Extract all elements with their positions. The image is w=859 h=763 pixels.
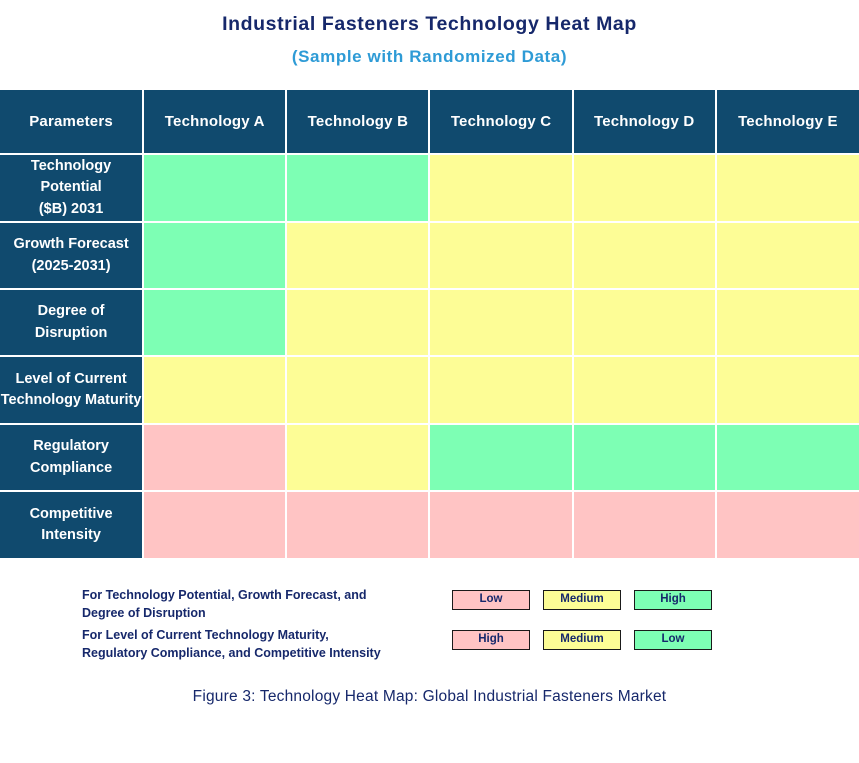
row-label-line: Degree of xyxy=(0,301,142,322)
column-header-parameters: Parameters xyxy=(0,90,143,154)
heat-cell xyxy=(716,491,859,558)
row-label-degree-of-disruption: Degree of Disruption xyxy=(0,289,143,356)
legend-swatch-medium: Medium xyxy=(543,590,621,610)
heat-cell xyxy=(716,424,859,491)
row-label-line: ($B) 2031 xyxy=(0,199,142,220)
heat-cell xyxy=(286,491,429,558)
legend-description-line: For Technology Potential, Growth Forecas… xyxy=(82,586,452,604)
heat-cell xyxy=(286,222,429,289)
row-label-technology-potential: Technology Potential ($B) 2031 xyxy=(0,154,143,222)
heat-cell xyxy=(573,491,716,558)
table-row: Technology Potential ($B) 2031 xyxy=(0,154,859,222)
heat-cell xyxy=(716,154,859,222)
heat-cell xyxy=(286,356,429,424)
heat-cell xyxy=(573,356,716,424)
heat-cell xyxy=(429,491,572,558)
heat-cell xyxy=(716,289,859,356)
legend-description-line: For Level of Current Technology Maturity… xyxy=(82,626,452,644)
heat-cell xyxy=(716,222,859,289)
row-label-line: Intensity xyxy=(0,525,142,546)
legend: For Technology Potential, Growth Forecas… xyxy=(0,586,859,666)
heat-cell xyxy=(143,424,286,491)
heatmap-page: Industrial Fasteners Technology Heat Map… xyxy=(0,0,859,763)
legend-swatch-group: Low Medium High xyxy=(452,586,712,610)
heatmap-table: Parameters Technology A Technology B Tec… xyxy=(0,90,859,558)
row-label-line: Level of Current xyxy=(0,369,142,390)
heat-cell xyxy=(286,424,429,491)
legend-swatch-high: High xyxy=(452,630,530,650)
table-row: Competitive Intensity xyxy=(0,491,859,558)
legend-row-inverse-metrics: For Level of Current Technology Maturity… xyxy=(0,626,859,666)
heat-cell xyxy=(429,289,572,356)
table-body: Technology Potential ($B) 2031 Growth Fo… xyxy=(0,154,859,558)
legend-swatch-low: Low xyxy=(634,630,712,650)
table-row: Degree of Disruption xyxy=(0,289,859,356)
row-label-line: Compliance xyxy=(0,458,142,479)
legend-description-line: Regulatory Compliance, and Competitive I… xyxy=(82,644,452,662)
row-label-growth-forecast: Growth Forecast (2025-2031) xyxy=(0,222,143,289)
heat-cell xyxy=(429,424,572,491)
column-header-technology-a: Technology A xyxy=(143,90,286,154)
legend-row-positive-metrics: For Technology Potential, Growth Forecas… xyxy=(0,586,859,626)
heat-cell xyxy=(143,491,286,558)
heat-cell xyxy=(429,154,572,222)
table-row: Growth Forecast (2025-2031) xyxy=(0,222,859,289)
row-label-regulatory-compliance: Regulatory Compliance xyxy=(0,424,143,491)
table-row: Regulatory Compliance xyxy=(0,424,859,491)
page-subtitle: (Sample with Randomized Data) xyxy=(0,35,859,67)
heat-cell xyxy=(143,222,286,289)
row-label-competitive-intensity: Competitive Intensity xyxy=(0,491,143,558)
header-row: Parameters Technology A Technology B Tec… xyxy=(0,90,859,154)
heat-cell xyxy=(716,356,859,424)
page-title: Industrial Fasteners Technology Heat Map xyxy=(0,0,859,35)
row-label-line: Technology Potential xyxy=(0,156,142,198)
figure-caption: Figure 3: Technology Heat Map: Global In… xyxy=(0,688,859,706)
row-label-line: Disruption xyxy=(0,323,142,344)
row-label-line: Technology Maturity xyxy=(0,390,142,411)
table-header: Parameters Technology A Technology B Tec… xyxy=(0,90,859,154)
heat-cell xyxy=(143,289,286,356)
legend-description: For Technology Potential, Growth Forecas… xyxy=(82,586,452,622)
legend-swatch-medium: Medium xyxy=(543,630,621,650)
legend-swatch-low: Low xyxy=(452,590,530,610)
heat-cell xyxy=(286,289,429,356)
column-header-technology-e: Technology E xyxy=(716,90,859,154)
heat-cell xyxy=(286,154,429,222)
heat-cell xyxy=(573,154,716,222)
heat-cell xyxy=(143,356,286,424)
heat-cell xyxy=(429,222,572,289)
legend-description: For Level of Current Technology Maturity… xyxy=(82,626,452,662)
column-header-technology-c: Technology C xyxy=(429,90,572,154)
column-header-technology-b: Technology B xyxy=(286,90,429,154)
row-label-line: Growth Forecast xyxy=(0,234,142,255)
heat-cell xyxy=(429,356,572,424)
row-label-line: (2025-2031) xyxy=(0,256,142,277)
legend-description-line: Degree of Disruption xyxy=(82,604,452,622)
table-row: Level of Current Technology Maturity xyxy=(0,356,859,424)
heat-cell xyxy=(573,289,716,356)
heat-cell xyxy=(573,222,716,289)
legend-swatch-high: High xyxy=(634,590,712,610)
row-label-technology-maturity: Level of Current Technology Maturity xyxy=(0,356,143,424)
heat-cell xyxy=(573,424,716,491)
heatmap-table-container: Parameters Technology A Technology B Tec… xyxy=(0,90,859,558)
column-header-technology-d: Technology D xyxy=(573,90,716,154)
legend-swatch-group: High Medium Low xyxy=(452,626,712,650)
row-label-line: Competitive xyxy=(0,504,142,525)
row-label-line: Regulatory xyxy=(0,436,142,457)
heat-cell xyxy=(143,154,286,222)
